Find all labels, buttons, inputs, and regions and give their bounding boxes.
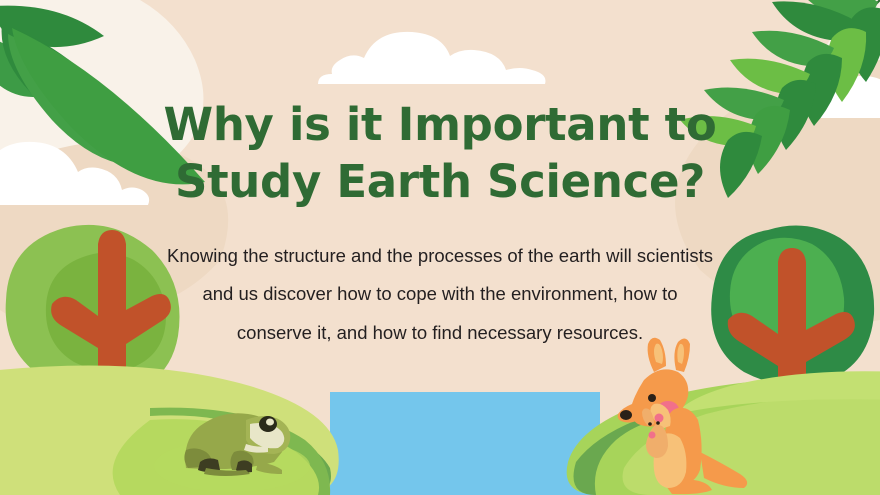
river-shape [330, 392, 600, 495]
illustration-scene [0, 0, 880, 495]
slide-canvas: Why is it Important to Study Earth Scien… [0, 0, 880, 495]
